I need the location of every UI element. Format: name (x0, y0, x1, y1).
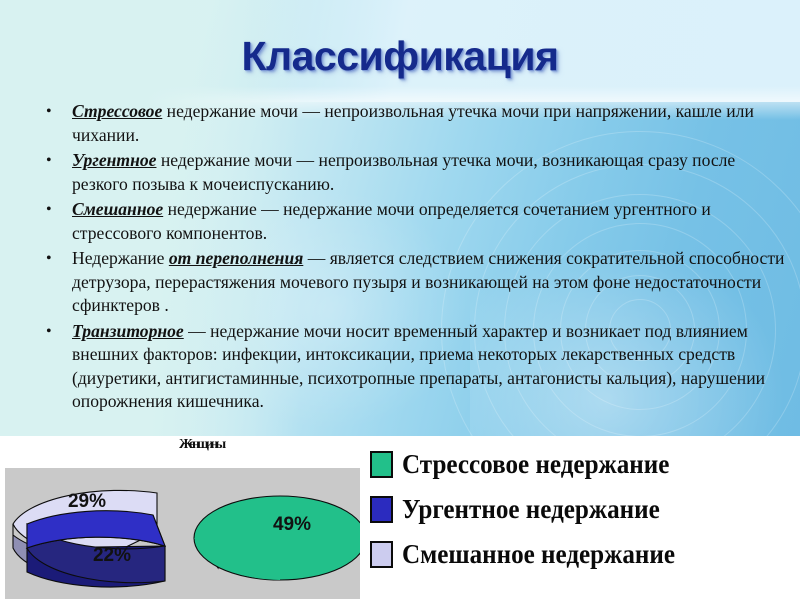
bullet-item-overflow: Недержание от переполнения — является сл… (30, 247, 790, 318)
bullet-prefix: Недержание (72, 248, 169, 268)
bullet-item-stress: Стрессовое недержание мочи — непроизволь… (30, 100, 790, 147)
bullet-text: недержание мочи — непроизвольная утечка … (72, 101, 754, 145)
bullet-lead-term: Стрессовое (72, 101, 162, 121)
legend-label-urgent: Ургентное недержание (402, 496, 660, 523)
legend-label-mixed: Смешанное недержание (402, 541, 675, 568)
legend-swatch-stress-icon (370, 451, 393, 478)
pie-label-urgent: 22% (93, 545, 131, 566)
page-title: Классификация (242, 36, 559, 77)
chart-legend: Стрессовое недержание Ургентное недержан… (370, 439, 795, 597)
bullet-list: Стрессовое недержание мочи — непроизволь… (30, 100, 790, 416)
legend-item-stress: Стрессовое недержание (370, 443, 690, 485)
bullet-text: недержание — недержание мочи определяетс… (72, 199, 711, 243)
bullet-item-urgent: Ургентное недержание мочи — непроизвольн… (30, 149, 790, 196)
bullet-lead-term: Смешанное (72, 199, 163, 219)
bullet-item-transient: Транзиторное — недержание мочи носит вре… (30, 320, 790, 414)
slide-canvas: Классификация Стрессовое недержание мочи… (0, 0, 800, 599)
pie-label-mixed: 29% (68, 491, 106, 512)
bullet-lead-term: Транзиторное (72, 321, 184, 341)
legend-item-urgent: Ургентное недержание (370, 488, 679, 530)
legend-label-stress: Стрессовое недержание (402, 451, 669, 478)
legend-swatch-mixed-icon (370, 541, 393, 568)
pie-label-stress: 49% (273, 514, 311, 535)
bullet-item-mixed: Смешанное недержание — недержание мочи о… (30, 198, 790, 245)
bullet-lead-term: от переполнения (169, 248, 303, 268)
legend-swatch-urgent-icon (370, 496, 393, 523)
pie-chart-svg: 29% 22% 49% (5, 468, 360, 599)
chart-title: Женщины (136, 437, 266, 453)
bullet-text: недержание мочи — непроизвольная утечка … (72, 150, 735, 194)
bullet-lead-term: Ургентное (72, 150, 156, 170)
legend-item-mixed: Смешанное недержание (370, 533, 696, 575)
pie-chart-plot-area: 29% 22% 49% (5, 468, 360, 599)
chart-panel: Женщины (0, 436, 800, 599)
pie-slice-stress (194, 496, 360, 580)
title-bar: Классификация (0, 36, 800, 77)
